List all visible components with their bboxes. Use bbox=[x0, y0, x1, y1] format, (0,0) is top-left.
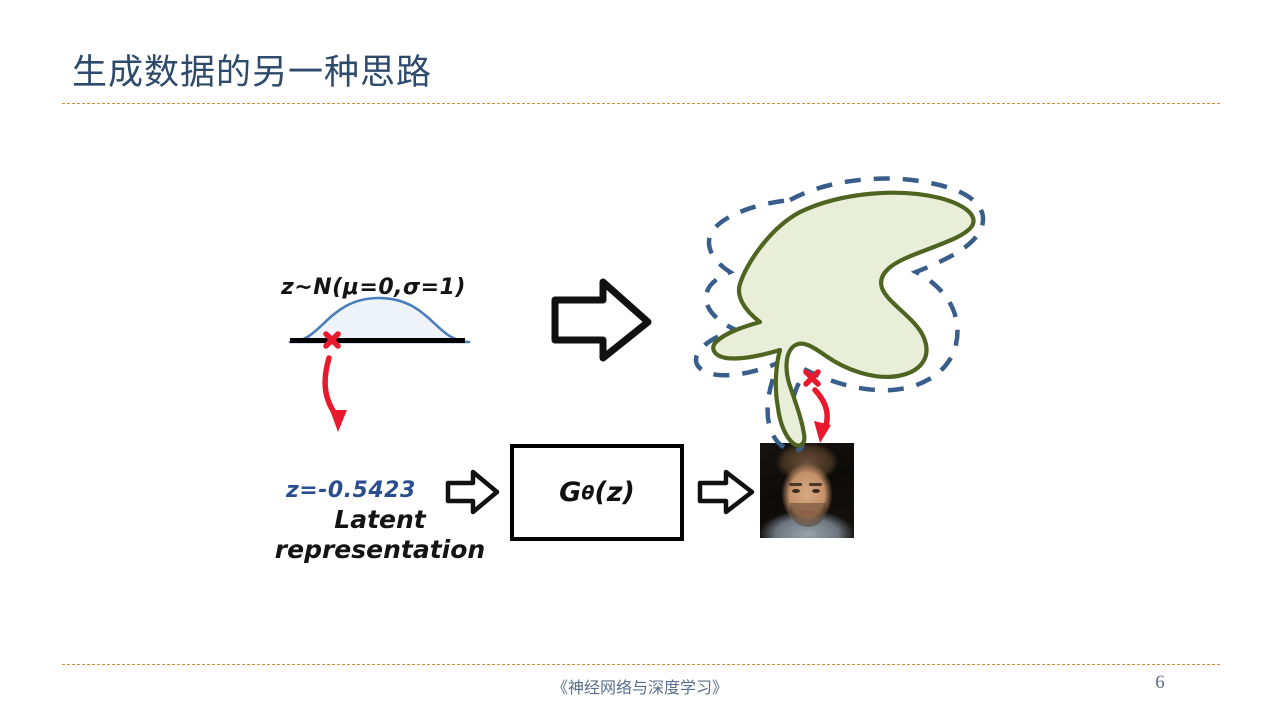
generator-label: Gθ(z) bbox=[510, 444, 684, 541]
latent-value-label: z=-0.5423 bbox=[286, 478, 416, 503]
title-divider bbox=[62, 103, 1220, 104]
big-block-arrow-right bbox=[555, 282, 648, 358]
model-distribution-blob bbox=[713, 193, 973, 446]
gaussian-curve bbox=[282, 292, 477, 352]
face-mouth bbox=[800, 511, 816, 514]
generator-label-main: G bbox=[559, 477, 581, 508]
data-sample-arrow bbox=[814, 390, 831, 443]
slide-canvas: 生成数据的另一种思路 z~N(μ=0,σ=1) z=-0.5423 Latent… bbox=[0, 0, 1280, 720]
face-eye-left bbox=[792, 489, 800, 493]
page-title: 生成数据的另一种思路 bbox=[72, 44, 432, 95]
latent-caption: Latent representation bbox=[272, 505, 488, 565]
block-arrow-to-image bbox=[700, 472, 752, 512]
face-beard bbox=[790, 503, 826, 527]
latent-caption-line1: Latent bbox=[272, 505, 488, 535]
true-distribution-contour bbox=[696, 179, 983, 451]
face-brow-right bbox=[809, 483, 822, 486]
diagram-overlay bbox=[0, 0, 1280, 720]
generator-label-arg: (z) bbox=[594, 477, 634, 508]
data-sample-x-mark bbox=[806, 372, 818, 384]
footer-divider bbox=[62, 664, 1220, 665]
face-brow-left bbox=[789, 483, 802, 486]
generated-face-image bbox=[760, 443, 854, 538]
generator-label-subscript: θ bbox=[581, 482, 594, 504]
latent-sample-arrow bbox=[325, 358, 347, 432]
face-eye-right bbox=[812, 489, 820, 493]
blob-label: p̂(x) bbox=[806, 283, 858, 309]
distribution-axis bbox=[290, 338, 465, 343]
footer-title: 《神经网络与深度学习》 bbox=[0, 674, 1280, 698]
latent-caption-line2: representation bbox=[272, 535, 488, 565]
page-number: 6 bbox=[1130, 672, 1190, 694]
